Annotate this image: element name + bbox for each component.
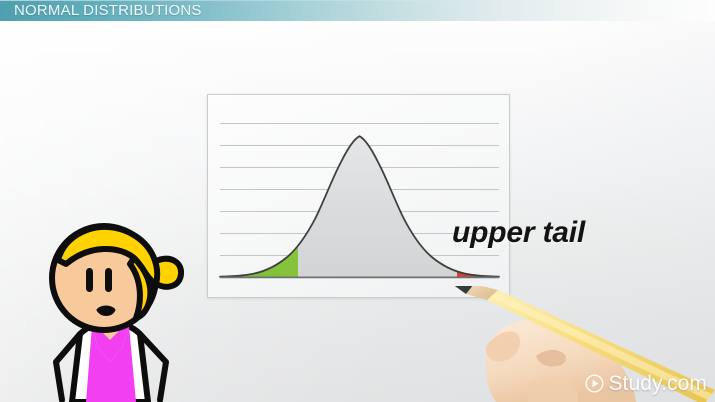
page-title: NORMAL DISTRIBUTIONS xyxy=(14,2,202,19)
upper-tail-annotation: upper tail xyxy=(452,216,585,250)
title-bar-highlight xyxy=(0,0,715,1)
slide-canvas: NORMAL DISTRIBUTIONS xyxy=(0,0,715,402)
study-watermark: Study.com xyxy=(585,373,707,394)
watermark-brand: Study.com xyxy=(608,373,707,394)
normal-distribution-chart xyxy=(207,94,510,298)
girl-mouth xyxy=(98,307,114,315)
girl-left-eye xyxy=(86,268,93,292)
girl-right-eye xyxy=(105,268,112,292)
cartoon-girl-illustration xyxy=(18,222,218,402)
chart-plot-area xyxy=(220,105,499,285)
play-circle-icon xyxy=(585,374,604,393)
normal-curve-svg xyxy=(220,105,499,285)
title-bar: NORMAL DISTRIBUTIONS xyxy=(0,0,715,21)
curve-body-fill xyxy=(220,136,499,277)
curve-area-group xyxy=(220,136,499,277)
